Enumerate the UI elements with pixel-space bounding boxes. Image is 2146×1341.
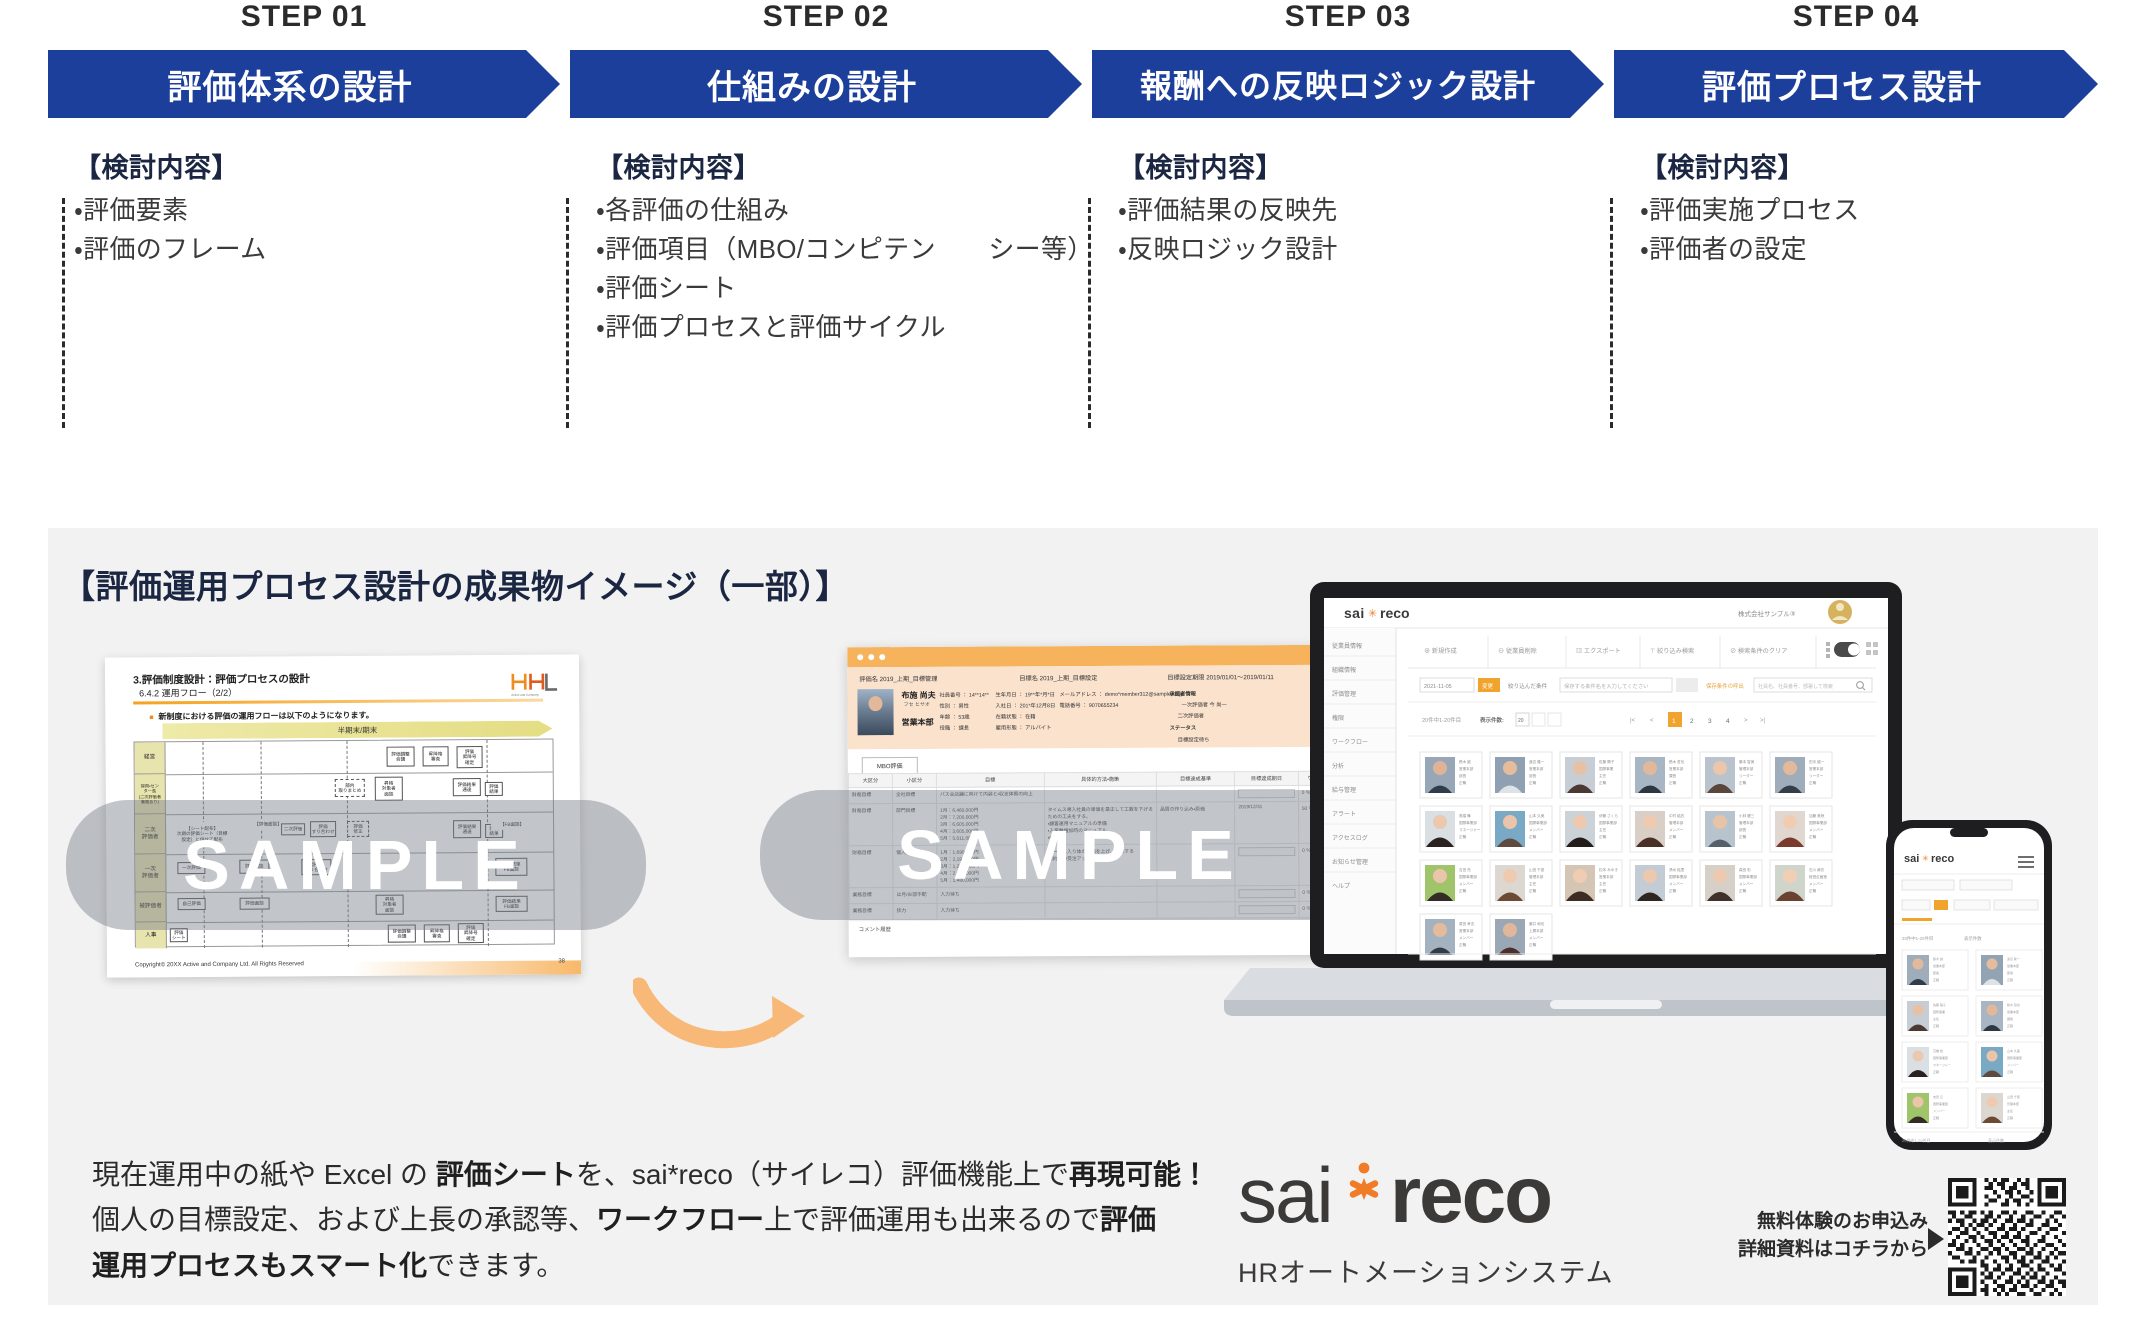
copy-line3-bold: 運用プロセスもスマート化: [92, 1250, 427, 1281]
svg-text:清水 絵里: 清水 絵里: [1669, 867, 1685, 872]
flow-node: 評価結果通達: [453, 778, 481, 796]
svg-text:伊藤 さくら: 伊藤 さくら: [1599, 813, 1618, 818]
svg-text:正職: 正職: [1669, 888, 1677, 893]
cta-line-1: 無料体験のお申込み: [1728, 1208, 1928, 1236]
employee-field: 年齢 ： 53歳: [940, 713, 970, 721]
svg-text:吉田 亮: 吉田 亮: [1933, 1094, 1943, 1099]
svg-text:reco: reco: [1390, 1158, 1551, 1239]
svg-text:国際事業部: 国際事業部: [2007, 1055, 2022, 1060]
step-detail-1: 【検討内容】 ・評価要素 ・評価のフレーム: [48, 146, 560, 269]
svg-text:メンバー: メンバー: [1809, 882, 1824, 886]
svg-text:鈴木 哲也: 鈴木 哲也: [1669, 759, 1685, 764]
step-divider-2: [566, 198, 569, 428]
employee-field: 電話番号 ： 9070655234: [1059, 701, 1118, 709]
svg-text:|<: |<: [1630, 718, 1636, 724]
svg-text:部長: 部長: [1933, 970, 1939, 975]
detail-bullet: ・評価項目（MBO/コンピテン シー等）: [596, 230, 1082, 269]
detail-bullet: ・評価要素: [74, 191, 560, 230]
svg-text:国際事業部: 国際事業部: [1599, 820, 1617, 825]
detail-heading-2: 【検討内容】: [596, 146, 1082, 185]
svg-text:権限: 権限: [1332, 714, 1344, 722]
tab-mbo-evaluation[interactable]: MBO評価: [862, 757, 918, 773]
svg-text:メンバー: メンバー: [1529, 936, 1544, 940]
svg-text:メンバー: メンバー: [1669, 828, 1684, 832]
svg-text:正職: 正職: [1529, 942, 1537, 947]
svg-text:正職: 正職: [1599, 780, 1607, 785]
detail-heading-4: 【検討内容】: [1640, 146, 2098, 185]
svg-text:メンバー: メンバー: [2007, 1063, 2019, 1067]
employee-field: 生年月日 ： 19**年*月*日: [995, 690, 1055, 698]
step-column-4: STEP 04 評価プロセス設計 【検討内容】 ・評価実施プロセス ・評価者の設…: [1614, 0, 2098, 269]
svg-text:藤本 智美: 藤本 智美: [1739, 759, 1755, 764]
svg-text:20件中1-20件目: 20件中1-20件目: [1902, 935, 1933, 942]
svg-text:主任: 主任: [1933, 1016, 1939, 1021]
svg-text:営業本部: 営業本部: [1529, 766, 1544, 771]
detail-heading-1: 【検討内容】: [74, 146, 560, 185]
svg-text:森田 彩: 森田 彩: [1739, 867, 1751, 872]
copy-line1-pre: 現在運用中の紙や Excel の: [92, 1159, 436, 1190]
svg-text:国際事業部: 国際事業部: [1459, 820, 1477, 825]
svg-text:吉田 亮: 吉田 亮: [1459, 867, 1471, 872]
svg-text:正職: 正職: [1459, 888, 1467, 893]
svg-text:鈴木 誠: 鈴木 誠: [1933, 956, 1943, 961]
svg-text:メンバー: メンバー: [1739, 882, 1754, 886]
svg-text:正職: 正職: [2007, 977, 2013, 982]
svg-text:鈴木 哲也: 鈴木 哲也: [2007, 1002, 2020, 1007]
svg-text:主任: 主任: [2007, 1108, 2013, 1113]
step-column-1: STEP 01 評価体系の設計 【検討内容】 ・評価要素 ・評価のフレーム: [48, 0, 560, 269]
qr-code[interactable]: [1948, 1178, 2066, 1296]
svg-text:管理本部: 管理本部: [1739, 820, 1754, 825]
svg-text:給与管理: 給与管理: [1332, 786, 1356, 794]
svg-text:山田 千夏: 山田 千夏: [2007, 1094, 2020, 1099]
svg-text:⊘ 検索条件のクリア: ⊘ 検索条件のクリア: [1730, 647, 1787, 655]
svg-text:マネージャー: マネージャー: [1933, 1062, 1951, 1067]
svg-text:メンバー: メンバー: [1459, 936, 1474, 940]
step-column-2: STEP 02 仕組みの設計 【検討内容】 ・各評価の仕組み ・評価項目（MBO…: [570, 0, 1082, 347]
employee-field: 雇用形態 ： アルバイト: [996, 723, 1052, 731]
step-column-3: STEP 03 報酬への反映ロジック設計 【検討内容】 ・評価結果の反映先 ・反…: [1092, 0, 1604, 269]
svg-text:高橋 舞: 高橋 舞: [1933, 1048, 1943, 1053]
col-large-category: 大区分: [848, 774, 892, 788]
step-detail-3: 【検討内容】 ・評価結果の反映先 ・反映ロジック設計: [1092, 146, 1604, 269]
svg-text:国際事業部: 国際事業部: [1933, 1101, 1948, 1106]
svg-text:正職: 正職: [1529, 834, 1537, 839]
svg-text:山田 千夏: 山田 千夏: [1529, 867, 1545, 872]
svg-text:20: 20: [1518, 718, 1524, 724]
sample-watermark: SAMPLE: [66, 800, 646, 930]
svg-text:課長: 課長: [2007, 1016, 2013, 1021]
detail-bullet: ・評価結果の反映先: [1118, 191, 1604, 230]
step-label-3: STEP 03: [1092, 0, 1604, 34]
svg-text:山本 久美: 山本 久美: [2007, 1048, 2020, 1053]
svg-text:国際事業部: 国際事業部: [1739, 874, 1757, 879]
svg-text:松本 みゆき: 松本 みゆき: [1599, 867, 1618, 872]
employee-field: 性別 ： 男性: [939, 702, 968, 710]
employee-field: メールアドレス ： demo*member312@sample.co.jp: [1059, 690, 1183, 699]
copy-line2-pre: 個人の目標設定、および上長の承認等、: [92, 1204, 596, 1235]
flow-node: 評価昇降号確定: [457, 746, 483, 768]
svg-text:山本 久美: 山本 久美: [1529, 813, 1545, 818]
svg-text:高橋 舞: 高橋 舞: [1459, 813, 1471, 818]
svg-text:マネージャー: マネージャー: [1459, 827, 1481, 832]
detail-bullet: ・評価プロセスと評価サイクル: [596, 308, 1082, 347]
sample-a-rule: [133, 699, 543, 704]
copy-line3-post: できます。: [427, 1250, 564, 1281]
svg-text:正職: 正職: [1459, 834, 1467, 839]
svg-text:1: 1: [1672, 718, 1676, 725]
svg-text:小林 健三: 小林 健三: [1739, 813, 1755, 818]
flow-row-line: [166, 772, 553, 776]
svg-text:⊕ 新規作成: ⊕ 新規作成: [1424, 647, 1457, 655]
svg-text:主任: 主任: [1599, 827, 1607, 832]
svg-text:メンバー: メンバー: [1459, 882, 1474, 886]
svg-text:従業員情報: 従業員情報: [1332, 642, 1362, 650]
svg-text:部長: 部長: [1739, 827, 1747, 832]
cta-arrow-icon: [1928, 1228, 1944, 1250]
svg-text:ヘルプ: ヘルプ: [1332, 883, 1350, 890]
svg-text:佐藤 陽子: 佐藤 陽子: [1933, 1002, 1946, 1007]
svg-text:2021-11-05: 2021-11-05: [1424, 684, 1452, 690]
step-label-4: STEP 04: [1614, 0, 2098, 34]
svg-text:部長: 部長: [1459, 773, 1467, 778]
window-dot-icon: [857, 654, 863, 660]
svg-text:表示件数: 表示件数: [1964, 935, 1982, 942]
flow-node: 部内取りまとめ: [335, 779, 365, 797]
svg-text:中村 結衣: 中村 結衣: [1669, 813, 1685, 818]
sample-a-phase-band: 半期末/期末: [162, 721, 552, 740]
svg-text:変更: 変更: [1482, 682, 1494, 690]
svg-text:正職: 正職: [1459, 780, 1467, 785]
svg-text:正職: 正職: [1933, 1069, 1939, 1074]
svg-text:国際事業部: 国際事業部: [1933, 1055, 1948, 1060]
svg-text:渡辺 隆一: 渡辺 隆一: [1529, 759, 1545, 764]
svg-text:営業本部: 営業本部: [2007, 1009, 2019, 1014]
svg-text:評価管理: 評価管理: [1332, 690, 1356, 698]
step-banner-1: 評価体系の設計: [48, 50, 560, 118]
svg-text:経営企画室: 経営企画室: [1809, 874, 1827, 879]
svg-text:正職: 正職: [1529, 888, 1537, 893]
svg-text:メンバー: メンバー: [1529, 828, 1544, 832]
status-title: ステータス: [1170, 723, 1197, 731]
flow-row-label: 経営: [134, 742, 165, 774]
step-detail-4: 【検討内容】 ・評価実施プロセス ・評価者の設定: [1614, 146, 2098, 269]
step-title-2: 仕組みの設計: [707, 60, 917, 109]
col-method: 具体的方法・施策: [1044, 772, 1157, 787]
svg-text:国際事業部: 国際事業部: [1809, 820, 1827, 825]
svg-text:石川 麻衣: 石川 麻衣: [1809, 867, 1825, 872]
svg-text:正職: 正職: [2007, 1023, 2013, 1028]
svg-text:正職: 正職: [1809, 888, 1817, 893]
detail-bullet: ・評価者の設定: [1640, 230, 2098, 269]
step-title-3: 報酬への反映ロジック設計: [1140, 61, 1536, 107]
svg-text:正職: 正職: [1669, 834, 1677, 839]
svg-text:Active and Company: Active and Company: [511, 693, 539, 697]
svg-text:主任: 主任: [1529, 881, 1537, 886]
employee-field: 役職 ： 課長: [940, 724, 969, 732]
sample-a-page-number: 38: [558, 958, 565, 964]
svg-text:営業本部: 営業本部: [1669, 766, 1684, 771]
window-dot-icon: [879, 654, 885, 660]
step-divider-1: [62, 198, 65, 428]
svg-text:主任: 主任: [1599, 773, 1607, 778]
svg-text:国際事業: 国際事業: [1933, 1009, 1945, 1014]
svg-text:原田 孝志: 原田 孝志: [1459, 921, 1475, 926]
svg-text:アラート: アラート: [1332, 811, 1356, 818]
svg-text:reco: reco: [1931, 853, 1955, 865]
svg-text:管理本部: 管理本部: [1739, 766, 1754, 771]
svg-text:>: >: [1744, 718, 1748, 724]
svg-text:⊤ 絞り込み検索: ⊤ 絞り込み検索: [1650, 647, 1694, 655]
device-mockups: sai ✳ reco 株式会社サンプル③ 従業員情報組織情報 評価管理権限 ワー…: [1198, 576, 2068, 1196]
col-goal: 目標: [936, 773, 1044, 788]
step-detail-2: 【検討内容】 ・各評価の仕組み ・評価項目（MBO/コンピテン シー等） ・評価…: [570, 146, 1082, 347]
svg-text:メンバー: メンバー: [1669, 882, 1684, 886]
step-title-1: 評価体系の設計: [168, 60, 413, 109]
detail-bullet: ・評価シート: [596, 269, 1082, 308]
svg-text:国際事業部: 国際事業部: [1529, 820, 1547, 825]
svg-text:4: 4: [1726, 718, 1730, 725]
svg-text:⊖ 従業員削除: ⊖ 従業員削除: [1498, 647, 1538, 655]
transition-arrow-icon: [633, 968, 823, 1058]
svg-text:正職: 正職: [1459, 942, 1467, 947]
approver-title: 承認者情報: [1169, 689, 1196, 697]
svg-text:正職: 正職: [1669, 780, 1677, 785]
svg-text:佐藤 陽子: 佐藤 陽子: [1599, 759, 1615, 764]
svg-text:正職: 正職: [1933, 977, 1939, 982]
svg-text:メンバー: メンバー: [1933, 1109, 1945, 1113]
svg-text:営業本部: 営業本部: [1599, 874, 1614, 879]
window-dot-icon: [868, 654, 874, 660]
step-banner-2: 仕組みの設計: [570, 50, 1082, 118]
svg-text:アクセスログ: アクセスログ: [1332, 834, 1368, 842]
svg-text:鈴木 誠: 鈴木 誠: [1459, 759, 1471, 764]
detail-bullet: ・評価実施プロセス: [1640, 191, 2098, 230]
svg-text:組織情報: 組織情報: [1332, 666, 1356, 674]
company-logo-icon: Active and Company: [507, 666, 561, 696]
svg-text:sai: sai: [1238, 1158, 1332, 1239]
employee-photo: [857, 689, 893, 735]
eval-name: 評価名 2019_上期_目標管理: [859, 674, 937, 683]
svg-text:加藤 美咲: 加藤 美咲: [1809, 813, 1825, 818]
svg-text:sai: sai: [1904, 853, 1919, 865]
panel-title: 【評価運用プロセス設計の成果物イメージ（一部）】: [62, 560, 849, 608]
svg-text:部長: 部長: [1529, 773, 1537, 778]
svg-text:正職: 正職: [1739, 834, 1747, 839]
step-strip: STEP 01 評価体系の設計 【検討内容】 ・評価要素 ・評価のフレーム ST…: [0, 0, 2146, 520]
svg-text:株式会社サンプル③: 株式会社サンプル③: [1738, 609, 1796, 618]
saireco-logo: sai reco: [1238, 1158, 1638, 1240]
svg-text:正職: 正職: [1809, 780, 1817, 785]
flow-node: 評価シート: [170, 928, 188, 942]
svg-text:営業本部: 営業本部: [1459, 928, 1474, 933]
svg-text:お知らせ管理: お知らせ管理: [1332, 858, 1368, 866]
svg-text:国際事業: 国際事業: [1599, 766, 1614, 771]
svg-text:✳: ✳: [1922, 854, 1929, 863]
svg-text:主任: 主任: [1599, 881, 1607, 886]
svg-text:上層本部: 上層本部: [1529, 928, 1544, 933]
flow-node: 評価調整会議: [387, 746, 415, 766]
svg-text:2: 2: [1690, 718, 1694, 725]
svg-text:保存する条件名を入力してください: 保存する条件名を入力してください: [1564, 682, 1648, 690]
svg-text:田中 誠一: 田中 誠一: [1809, 759, 1825, 764]
copy-line2-bold2: 評価: [1100, 1204, 1156, 1235]
step-title-4: 評価プロセス設計: [1702, 60, 1982, 109]
svg-text:正職: 正職: [2007, 1115, 2013, 1120]
sample-a-note: 新制度における評価の運用フローは以下のようになります。: [149, 710, 374, 723]
svg-text:表示件数:: 表示件数:: [1479, 716, 1504, 724]
detail-bullet: ・評価のフレーム: [74, 230, 560, 269]
copy-line1-mid: を、sai*reco（サイレコ）評価機能上で: [576, 1159, 1069, 1190]
step-label-2: STEP 02: [570, 0, 1082, 34]
svg-text:管理本部: 管理本部: [1669, 820, 1684, 825]
svg-text:<: <: [1650, 718, 1654, 724]
employee-name: 布施 尚夫: [901, 690, 935, 701]
svg-text:▥ エクスポート: ▥ エクスポート: [1576, 647, 1621, 655]
employee-kana: フセ ヒサオ: [903, 701, 929, 708]
svg-text:正職: 正職: [1599, 834, 1607, 839]
flow-node: 昇降格審査: [423, 746, 449, 766]
svg-text:正職: 正職: [1809, 834, 1817, 839]
svg-text:正職: 正職: [1739, 780, 1747, 785]
svg-text:正職: 正職: [1529, 780, 1537, 785]
svg-text:営業本部: 営業本部: [2007, 963, 2019, 968]
svg-text:部長: 部長: [2007, 970, 2013, 975]
copy-line1-bold2: 再現可能！: [1069, 1159, 1209, 1190]
employee-field: 在籍状態 ： 在籍: [996, 712, 1036, 720]
svg-text:3: 3: [1708, 718, 1712, 725]
copy-line1-bold1: 評価シート: [436, 1159, 576, 1190]
flow-node: 評価結果: [485, 782, 503, 796]
svg-text:課長: 課長: [1669, 773, 1677, 778]
svg-text:正職: 正職: [1739, 888, 1747, 893]
svg-text:✳: ✳: [1368, 608, 1377, 620]
sample-a-subtitle: 6.4.2 運用フロー（2/2）: [139, 686, 237, 700]
step-banner-3: 報酬への反映ロジック設計: [1092, 50, 1604, 118]
flow-node: 昇格対象者面談: [375, 777, 403, 801]
col-small-category: 小区分: [892, 773, 936, 787]
goal-name: 目標名 2019_上期_目標設定: [1019, 673, 1097, 682]
step-banner-4: 評価プロセス設計: [1614, 50, 2098, 118]
employee-department: 営業本部: [902, 717, 934, 728]
employee-field: 入社日 ： 201*年12月8日: [995, 701, 1055, 709]
svg-text:正職: 正職: [1933, 1023, 1939, 1028]
copy-line2-mid: 上で評価運用も出来るので: [764, 1204, 1100, 1235]
svg-text:20件中1-20件目: 20件中1-20件目: [1422, 716, 1461, 724]
svg-text:リーダー: リーダー: [1809, 773, 1824, 778]
saireco-brand: sai reco HRオートメーションシステム: [1238, 1158, 1708, 1290]
step-divider-4: [1610, 198, 1613, 428]
svg-text:表示件数: 表示件数: [1988, 1137, 2004, 1143]
svg-text:管理本部: 管理本部: [2007, 1101, 2019, 1106]
step-label-1: STEP 01: [48, 0, 560, 34]
svg-text:国際事業部: 国際事業部: [1459, 874, 1477, 879]
svg-text:メンバー: メンバー: [1809, 828, 1824, 832]
deliverable-panel: 【評価運用プロセス設計の成果物イメージ（一部）】 3.評価制度設計：評価プロセス…: [48, 528, 2098, 1305]
svg-text:20件中1-20件目: 20件中1-20件目: [1902, 1137, 1930, 1143]
svg-text:渡辺 隆一: 渡辺 隆一: [2007, 956, 2020, 961]
svg-text:sai: sai: [1344, 605, 1365, 621]
svg-text:reco: reco: [1380, 605, 1410, 621]
step-divider-3: [1088, 198, 1091, 428]
brand-tagline: HRオートメーションシステム: [1238, 1251, 1708, 1290]
svg-text:保存条件の呼出: 保存条件の呼出: [1706, 682, 1744, 690]
svg-text:営業本部: 営業本部: [1933, 963, 1945, 968]
employee-field: 社員番号 ： 14**14**: [939, 691, 989, 699]
svg-text:正職: 正職: [1933, 1115, 1939, 1120]
svg-text:国際事業部: 国際事業部: [1669, 874, 1687, 879]
sample-a-copyright: Copyright© 20XX Active and Company Ltd. …: [135, 961, 304, 968]
cta-text: 無料体験のお申込み 詳細資料はコチラから: [1728, 1208, 1928, 1263]
cta-line-2: 詳細資料はコチラから: [1728, 1236, 1928, 1264]
svg-text:正職: 正職: [2007, 1069, 2013, 1074]
detail-heading-3: 【検討内容】: [1118, 146, 1604, 185]
slide-root: STEP 01 評価体系の設計 【検討内容】 ・評価要素 ・評価のフレーム ST…: [0, 0, 2146, 1341]
svg-text:管理本部: 管理本部: [1529, 874, 1544, 879]
svg-text:社員名、社員番号、部署して検索: 社員名、社員番号、部署して検索: [1758, 683, 1833, 690]
svg-text:営業本部: 営業本部: [1809, 766, 1824, 771]
svg-text:絞り込んだ条件: 絞り込んだ条件: [1508, 682, 1548, 690]
svg-text:藤井 和也: 藤井 和也: [1529, 921, 1545, 926]
svg-text:営業本部: 営業本部: [1459, 766, 1474, 771]
detail-bullet: ・反映ロジック設計: [1118, 230, 1604, 269]
svg-text:正職: 正職: [1599, 888, 1607, 893]
copy-line2-bold1: ワークフロー: [596, 1204, 764, 1235]
svg-text:>|: >|: [1760, 718, 1766, 724]
detail-bullet: ・各評価の仕組み: [596, 191, 1082, 230]
svg-text:ワークフロー: ワークフロー: [1332, 739, 1368, 746]
closing-copy: 現在運用中の紙や Excel の 評価シートを、sai*reco（サイレコ）評価…: [92, 1152, 1242, 1288]
svg-text:リーダー: リーダー: [1739, 773, 1754, 778]
svg-text:分析: 分析: [1332, 762, 1344, 770]
